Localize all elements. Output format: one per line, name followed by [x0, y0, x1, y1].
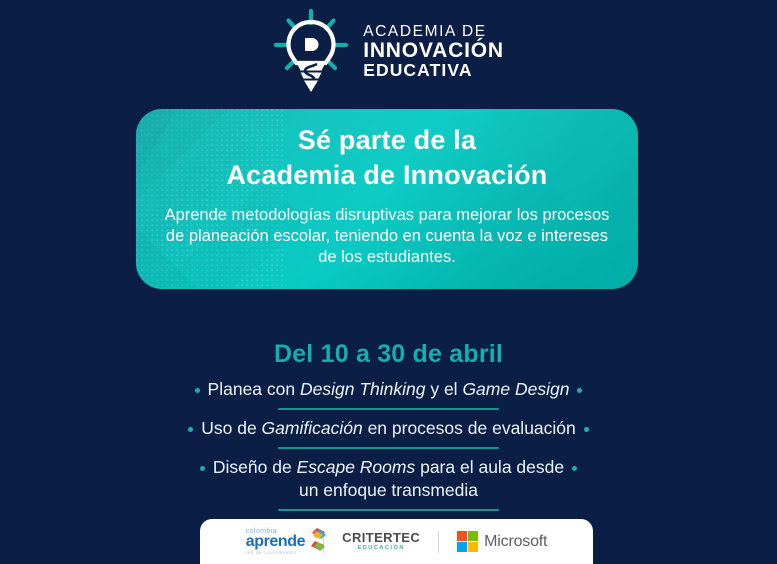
topic-list: Planea con Design Thinking y el Game Des…	[0, 378, 777, 518]
brand-header: ACADEMIA DE INNOVACIÓN EDUCATIVA	[0, 6, 777, 98]
bullet-dot-right	[572, 466, 577, 471]
bullet-dot-left	[200, 466, 205, 471]
brand-line-3: EDUCATIVA	[363, 62, 504, 80]
bullet-dot-right	[577, 388, 582, 393]
bullet-3-pre: Diseño de	[213, 457, 297, 477]
bullet-dot-right	[584, 427, 589, 432]
lightbulb-icon	[273, 8, 349, 96]
critertec-main: CRITERTEC	[342, 531, 420, 544]
colombia-aprende-sub: red de conocimiento	[246, 551, 297, 556]
colombia-aprende-logo: colombia aprende red de conocimiento	[246, 528, 305, 556]
bullet-3-post: un enfoque transmedia	[200, 479, 577, 502]
list-item: Planea con Design Thinking y el Game Des…	[0, 378, 777, 401]
critertec-sub: EDUCACIÓN	[357, 546, 404, 552]
date-range: Del 10 a 30 de abril	[0, 340, 777, 369]
list-item: Uso de Gamificación en procesos de evalu…	[0, 417, 777, 440]
bullet-1-mid: y el	[425, 379, 462, 399]
bullet-1-pre: Planea con	[208, 379, 300, 399]
brand-line-2: INNOVACIÓN	[363, 40, 504, 61]
bullet-3-mid: para el aula desde	[415, 457, 564, 477]
bullet-1-em2: Game Design	[462, 379, 569, 399]
cta-area: ¡Inscríbete!	[0, 280, 777, 320]
bullet-dot-left	[188, 427, 193, 432]
list-item: Diseño de Escape Rooms para el aula desd…	[0, 456, 777, 502]
microsoft-squares-icon	[457, 531, 478, 552]
brand-line-1: ACADEMIA DE	[363, 24, 504, 40]
partner-logo-bar: colombia aprende red de conocimiento CRI…	[200, 519, 593, 564]
banner-heading: Sé parte de la Academia de Innovación	[162, 123, 612, 192]
microsoft-wordmark: Microsoft	[484, 533, 547, 551]
bullet-dot-left	[195, 388, 200, 393]
logo-divider	[438, 531, 439, 553]
banner-heading-line-2: Academia de Innovación	[162, 158, 612, 193]
microsoft-logo: Microsoft	[457, 531, 547, 552]
bullet-3-em: Escape Rooms	[297, 457, 416, 477]
critertec-logo: CRITERTEC EDUCACIÓN	[342, 531, 420, 552]
list-separator	[278, 447, 499, 449]
banner-paragraph: Aprende metodologías disruptivas para me…	[162, 205, 612, 268]
list-separator	[278, 509, 499, 511]
colombia-aprende-main: aprende	[246, 534, 305, 550]
bullet-2-mid: en procesos de evaluación	[363, 418, 576, 438]
list-separator	[278, 408, 499, 410]
ribbon-icon	[304, 527, 328, 553]
bullet-2-pre: Uso de	[201, 418, 261, 438]
banner-heading-line-1: Sé parte de la	[162, 123, 612, 158]
hero-banner: Sé parte de la Academia de Innovación Ap…	[136, 109, 638, 289]
poster-canvas: ACADEMIA DE INNOVACIÓN EDUCATIVA	[0, 0, 777, 564]
brand-wordmark: ACADEMIA DE INNOVACIÓN EDUCATIVA	[363, 24, 504, 79]
bullet-2-em: Gamificación	[262, 418, 363, 438]
bullet-1-em: Design Thinking	[300, 379, 425, 399]
